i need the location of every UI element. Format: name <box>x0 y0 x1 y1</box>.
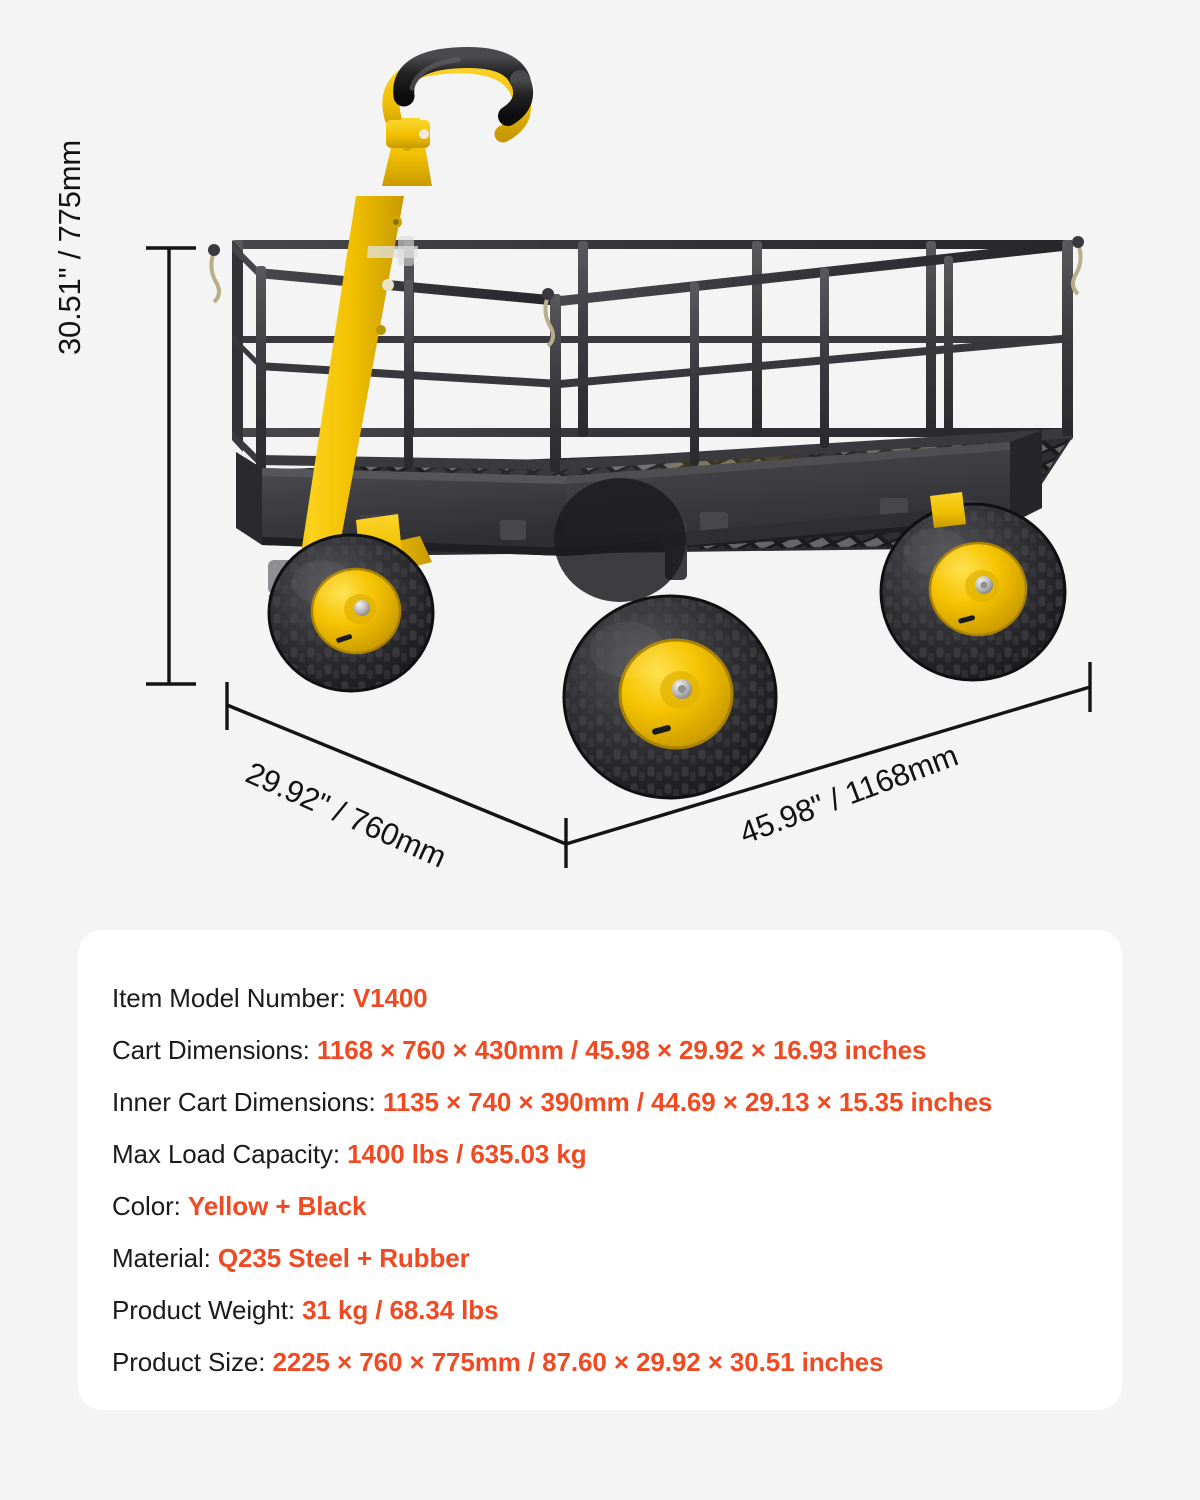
specification-card: Item Model Number: V1400 Cart Dimensions… <box>78 930 1122 1410</box>
spec-row: Color: Yellow + Black <box>112 1180 1088 1232</box>
product-image-stage: 30.51" / 775mm 29.92" / 760mm 45.98" / 1… <box>0 0 1200 910</box>
dimension-label-height: 30.51" / 775mm <box>52 140 88 355</box>
spec-row: Product Size: 2225 × 760 × 775mm / 87.60… <box>112 1336 1088 1388</box>
spec-value: V1400 <box>353 983 428 1013</box>
spec-label: Max Load Capacity: <box>112 1139 340 1169</box>
spec-value: 2225 × 760 × 775mm / 87.60 × 29.92 × 30.… <box>272 1347 883 1377</box>
spec-label: Product Weight: <box>112 1295 295 1325</box>
spec-label: Material: <box>112 1243 211 1273</box>
spec-row: Item Model Number: V1400 <box>112 972 1088 1024</box>
spec-value: 1135 × 740 × 390mm / 44.69 × 29.13 × 15.… <box>383 1087 992 1117</box>
spec-label: Item Model Number: <box>112 983 346 1013</box>
spec-row: Inner Cart Dimensions: 1135 × 740 × 390m… <box>112 1076 1088 1128</box>
spec-value: Q235 Steel + Rubber <box>218 1243 470 1273</box>
spec-row: Material: Q235 Steel + Rubber <box>112 1232 1088 1284</box>
spec-value: 1400 lbs / 635.03 kg <box>347 1139 586 1169</box>
spec-label: Inner Cart Dimensions: <box>112 1087 376 1117</box>
dimension-lines <box>0 0 1200 910</box>
spec-label: Cart Dimensions: <box>112 1035 310 1065</box>
spec-label: Color: <box>112 1191 181 1221</box>
spec-row: Cart Dimensions: 1168 × 760 × 430mm / 45… <box>112 1024 1088 1076</box>
spec-row: Max Load Capacity: 1400 lbs / 635.03 kg <box>112 1128 1088 1180</box>
spec-row: Product Weight: 31 kg / 68.34 lbs <box>112 1284 1088 1336</box>
spec-value: Yellow + Black <box>188 1191 367 1221</box>
spec-label: Product Size: <box>112 1347 265 1377</box>
spec-value: 1168 × 760 × 430mm / 45.98 × 29.92 × 16.… <box>317 1035 926 1065</box>
spec-value: 31 kg / 68.34 lbs <box>302 1295 498 1325</box>
